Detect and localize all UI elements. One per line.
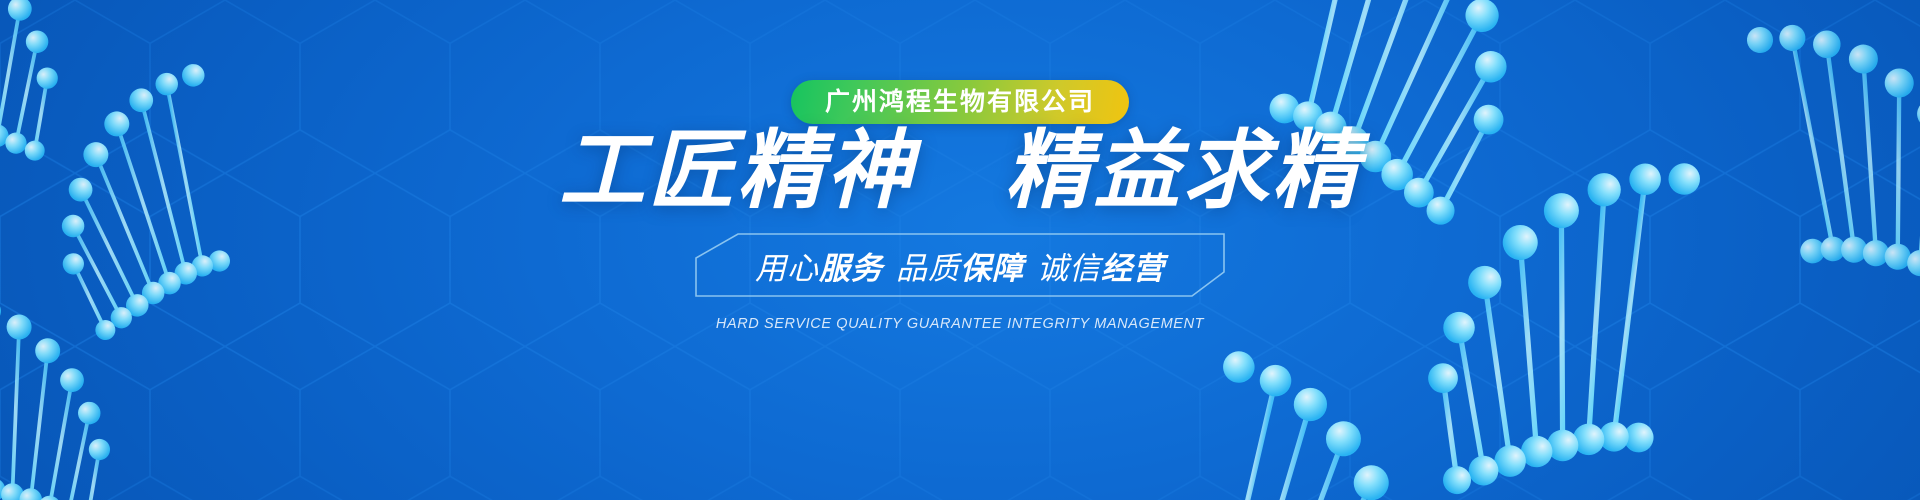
subtitle-seg3-bold: 经营 xyxy=(1101,243,1165,288)
subtitle-seg2-bold: 保障 xyxy=(960,243,1024,288)
headline-part-2: 精益求精 xyxy=(1005,123,1361,219)
subtitle-frame: 用心服务品质保障诚信经营 xyxy=(694,232,1226,298)
promotional-banner: 广州鸿程生物有限公司 工匠精神 精益求精 用心服务品质保障诚信经营 HARD S… xyxy=(0,0,1920,500)
subtitle-seg1-bold: 服务 xyxy=(819,243,883,288)
english-tagline: HARD SERVICE QUALITY GUARANTEE INTEGRITY… xyxy=(0,316,1920,332)
subtitle-seg2-light: 品质 xyxy=(896,243,960,288)
company-name-badge: 广州鸿程生物有限公司 xyxy=(791,80,1129,124)
subtitle: 用心服务品质保障诚信经营 xyxy=(694,232,1226,298)
headline: 工匠精神 精益求精 xyxy=(0,128,1920,214)
subtitle-seg3-light: 诚信 xyxy=(1037,243,1101,288)
subtitle-seg1-light: 用心 xyxy=(755,243,819,288)
headline-part-1: 工匠精神 xyxy=(559,123,915,219)
